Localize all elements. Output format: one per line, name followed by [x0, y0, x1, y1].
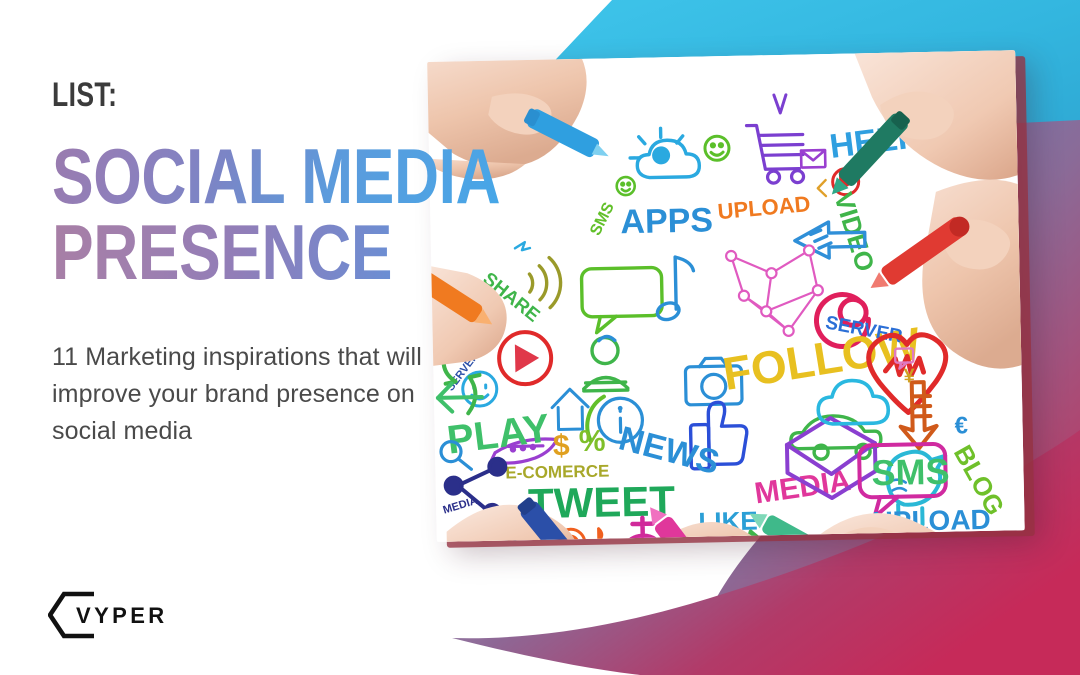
- vyper-wordmark: VYPER: [76, 603, 168, 628]
- doodle-word-sms-big: SMS: [871, 451, 950, 494]
- vyper-logo[interactable]: VYPER: [48, 585, 176, 645]
- page-title: SOCIAL MEDIA PRESENCE: [52, 138, 372, 291]
- photo-card-image: HELP VIDEO: [427, 50, 1025, 542]
- doodle-symbol-percent: %: [578, 425, 605, 459]
- doodle-symbol-euro: €: [954, 412, 968, 439]
- subtitle-text: 11 Marketing inspirations that will impr…: [52, 339, 442, 450]
- kicker-label: LIST:: [52, 78, 364, 112]
- vyper-logo-mark: VYPER: [48, 585, 176, 645]
- poster-canvas: LIST: SOCIAL MEDIA PRESENCE 11 Marketing…: [0, 0, 1080, 675]
- doodle-word-apps: APPS: [620, 201, 713, 241]
- headline-block: LIST: SOCIAL MEDIA PRESENCE 11 Marketing…: [52, 78, 452, 450]
- hero-photo-card[interactable]: HELP VIDEO: [427, 50, 1025, 542]
- doodle-symbol-dollar: $: [553, 429, 571, 462]
- doodle-symbol-yen: ¥: [903, 365, 915, 387]
- doodle-illustration: HELP VIDEO: [427, 50, 1025, 542]
- headline-line-2: PRESENCE: [52, 208, 392, 296]
- headline-line-1: SOCIAL MEDIA: [52, 132, 500, 220]
